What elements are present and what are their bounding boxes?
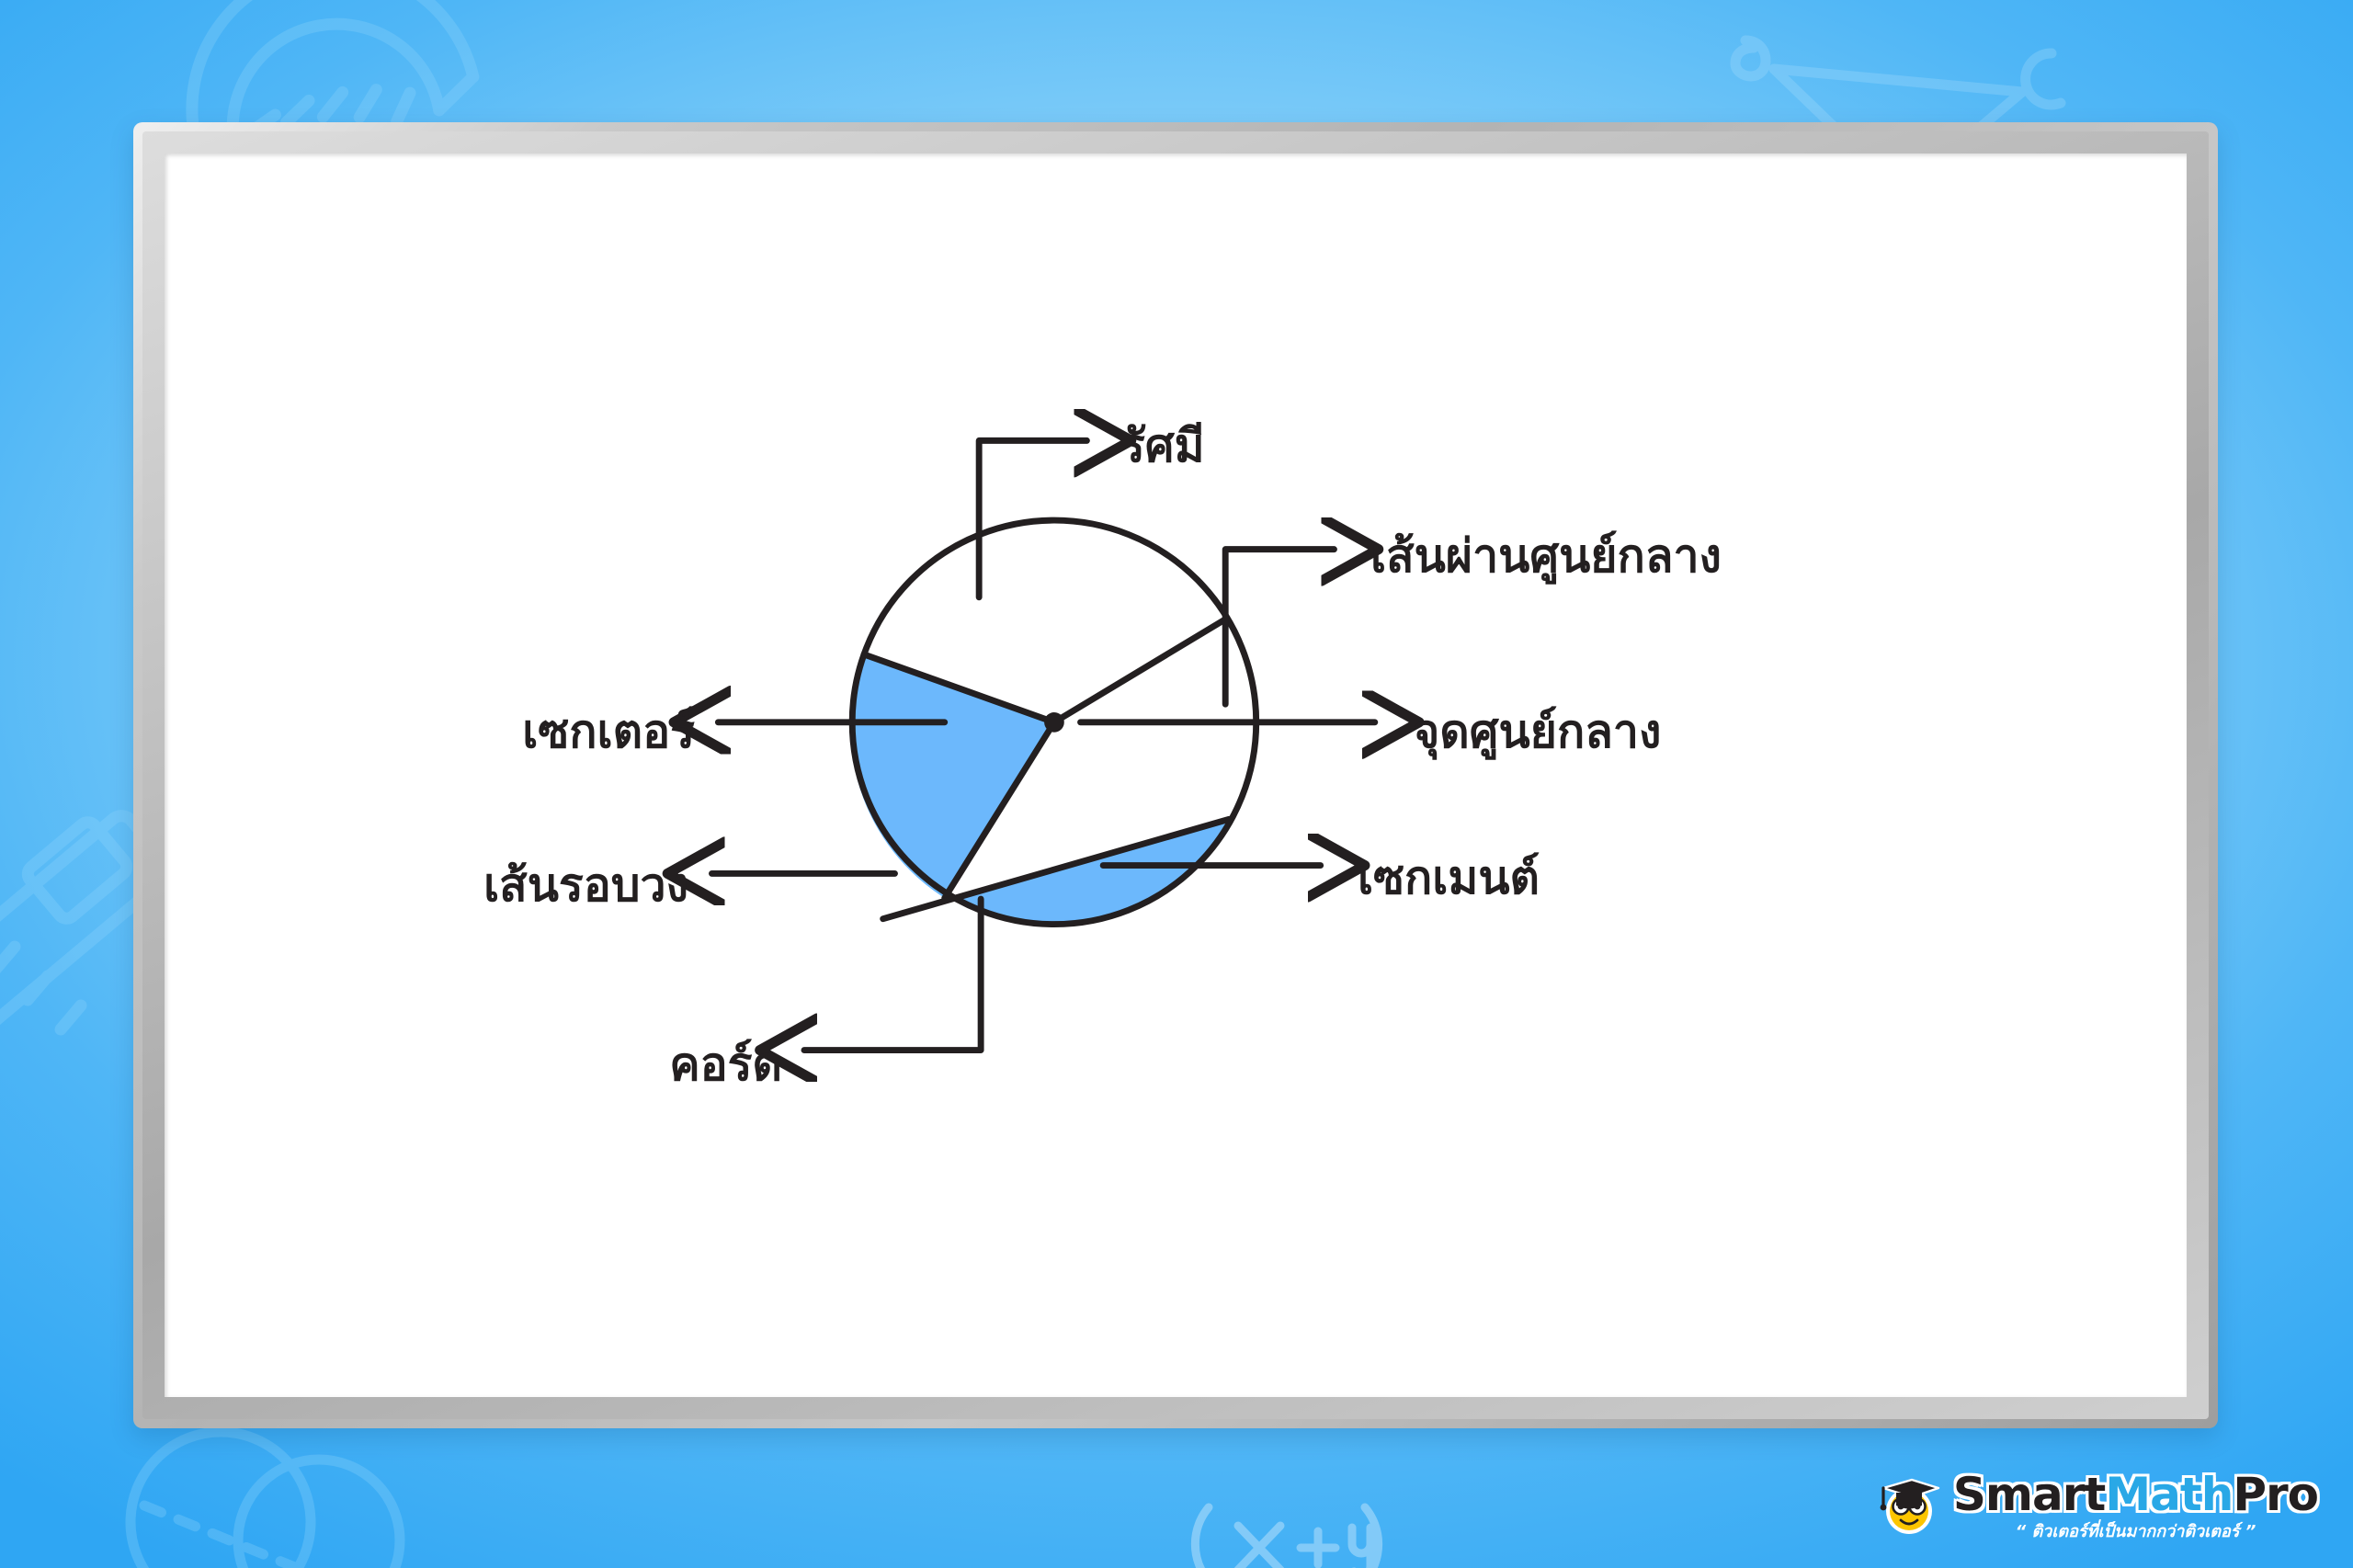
radius-line xyxy=(1054,619,1227,722)
label-sector: เซกเตอร์ xyxy=(522,706,695,759)
circle-parts-diagram xyxy=(165,153,2187,1397)
whiteboard-frame: รัศมี เส้นผ่านศูนย์กลาง จุดศูนย์กลาง เซก… xyxy=(133,122,2218,1428)
formula-xy xyxy=(1172,1494,1402,1568)
logo-word-pro: Pro xyxy=(2233,1468,2318,1521)
center-point-dot xyxy=(1044,712,1064,733)
logo-word-math: Math xyxy=(2105,1468,2233,1521)
logo-word-smart: Smart xyxy=(1953,1468,2105,1521)
smartmathpro-logo: SmartMathPro “ ติวเตอร์ที่เป็นมากกว่าติว… xyxy=(1870,1468,2318,1544)
graduate-smiley-icon xyxy=(1870,1469,1944,1543)
whiteboard-bevel: รัศมี เส้นผ่านศูนย์กลาง จุดศูนย์กลาง เซก… xyxy=(142,131,2209,1419)
label-circumference: เส้นรอบวง xyxy=(483,859,688,913)
label-chord: คอร์ด xyxy=(669,1039,782,1092)
label-center-point: จุดศูนย์กลาง xyxy=(1413,706,1661,759)
logo-tagline: “ ติวเตอร์ที่เป็นมากกว่าติวเตอร์ ” xyxy=(2016,1517,2256,1544)
logo-wordmark: SmartMathPro xyxy=(1953,1468,2318,1521)
label-radius: รัศมี xyxy=(1120,420,1205,473)
page-background: รัศมี เส้นผ่านศูนย์กลาง จุดศูนย์กลาง เซก… xyxy=(0,0,2353,1568)
leader-chord xyxy=(804,899,981,1051)
label-segment: เซกเมนต์ xyxy=(1358,852,1540,905)
whiteboard-surface: รัศมี เส้นผ่านศูนย์กลาง จุดศูนย์กลาง เซก… xyxy=(165,153,2187,1397)
label-diameter: เส้นผ่านศูนย์กลาง xyxy=(1370,530,1722,584)
venn-icon xyxy=(106,1421,418,1568)
leader-diameter xyxy=(1225,550,1334,705)
